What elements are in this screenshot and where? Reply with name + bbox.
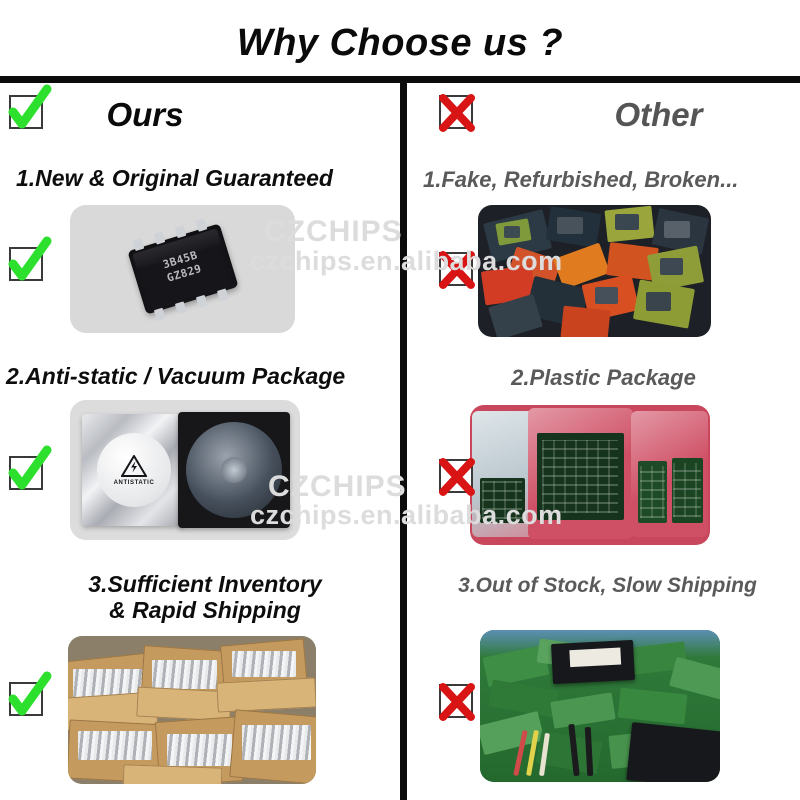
cross-icon xyxy=(439,684,473,718)
cross-icon-glyph xyxy=(430,83,482,135)
row-3-other-heading: 3.Out of Stock, Slow Shipping xyxy=(415,574,800,598)
page-title: Why Choose us ? xyxy=(0,22,800,65)
cross-icon xyxy=(439,252,473,286)
green-pcb-scrap-photo xyxy=(480,630,720,782)
column-header-other-label: Other xyxy=(462,96,800,134)
reel-hub xyxy=(221,457,247,483)
plastic-bag-illustration xyxy=(470,405,710,545)
check-icon xyxy=(9,247,43,281)
check-icon-glyph xyxy=(0,235,52,287)
check-icon xyxy=(9,682,43,716)
check-icon xyxy=(9,95,43,129)
chip-marking: 3B45B GZ829 xyxy=(132,240,232,294)
cross-icon xyxy=(439,95,473,129)
why-choose-us-comparison-graphic: Why Choose us ? Ours Other 1.New & Origi… xyxy=(0,0,800,800)
cross-icon xyxy=(439,459,473,493)
component-reel xyxy=(178,412,290,528)
antistatic-label: ANTISTATIC xyxy=(97,433,171,507)
antistatic-label-text: ANTISTATIC xyxy=(114,480,155,486)
chip-illustration: 3B45B GZ829 xyxy=(127,223,238,314)
soic-chip-photo: 3B45B GZ829 xyxy=(70,205,295,333)
cross-icon-glyph xyxy=(430,240,482,292)
row-1-ours-heading: 1.New & Original Guaranteed xyxy=(16,166,396,192)
check-icon-glyph xyxy=(0,670,52,722)
black-module xyxy=(551,640,635,684)
chip-body: 3B45B GZ829 xyxy=(127,223,238,314)
check-icon xyxy=(9,456,43,490)
scrap-chips-pile-photo xyxy=(478,205,711,337)
pink-plastic-bag-pcb-photo xyxy=(470,405,710,545)
check-icon-glyph xyxy=(0,83,52,135)
cross-icon-glyph xyxy=(430,447,482,499)
vertical-divider xyxy=(400,83,407,800)
column-header-ours: Ours xyxy=(0,86,400,146)
esd-warning-icon xyxy=(121,455,147,477)
scrap-chips-illustration xyxy=(478,205,711,337)
horizontal-divider xyxy=(0,76,800,83)
row-2-other-heading: 2.Plastic Package xyxy=(407,366,800,391)
antistatic-bag-and-reel-photo: ANTISTATIC xyxy=(70,400,300,540)
check-icon-glyph xyxy=(0,444,52,496)
cardboard-boxes-stock-photo xyxy=(68,636,316,784)
antistatic-bag: ANTISTATIC xyxy=(82,414,186,526)
cross-icon-glyph xyxy=(430,672,482,724)
row-3-ours-heading: 3.Sufficient Inventory & Rapid Shipping xyxy=(40,572,370,624)
boxes-illustration xyxy=(68,636,316,784)
row-1-other-heading: 1.Fake, Refurbished, Broken... xyxy=(423,168,800,193)
pcb-scrap-illustration xyxy=(480,630,720,782)
row-2-ours-heading: 2.Anti-static / Vacuum Package xyxy=(6,364,398,390)
